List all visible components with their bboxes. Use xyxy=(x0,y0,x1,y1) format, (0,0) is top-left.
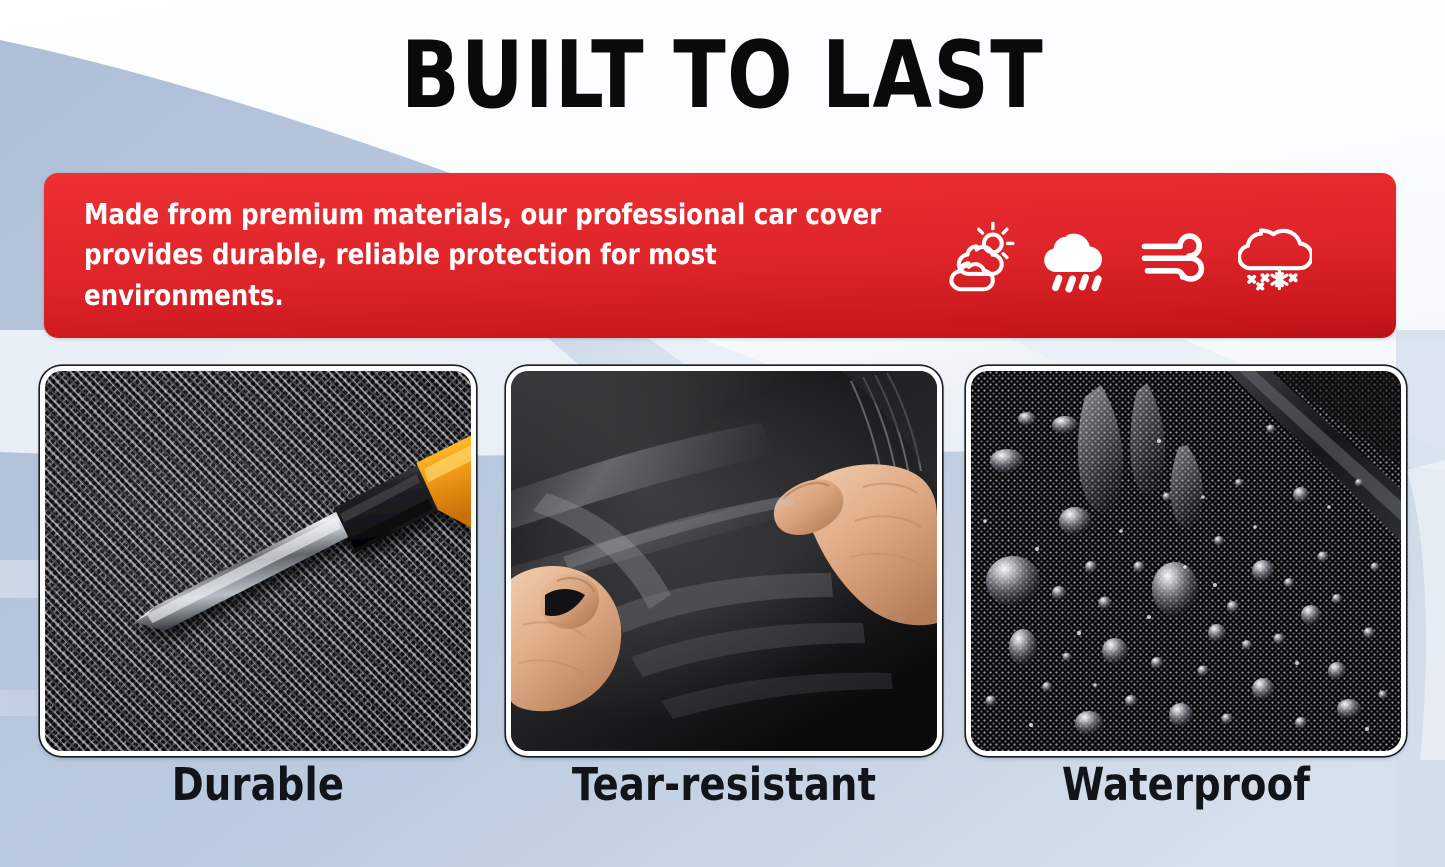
sun-behind-cloud-icon xyxy=(944,219,1018,293)
feature-image-tear-resistant xyxy=(511,371,937,751)
feature-panel-waterproof xyxy=(966,366,1406,756)
rain-cloud-icon xyxy=(1042,219,1116,293)
page-title-row: BUILT TO LAST xyxy=(0,0,1445,150)
page-title: BUILT TO LAST xyxy=(401,29,1044,122)
weather-icon-group xyxy=(944,219,1312,293)
stretched-sheet-illustration xyxy=(511,371,937,751)
feature-image-durable xyxy=(45,371,471,751)
feature-panel-tear-resistant xyxy=(506,366,942,756)
banner-description-text: Made from premium materials, our profess… xyxy=(84,195,902,316)
feature-panel-durable xyxy=(40,366,476,756)
water-beading-illustration xyxy=(971,371,1401,751)
snow-cloud-icon xyxy=(1238,219,1312,293)
caption-tear-resistant: Tear-resistant xyxy=(517,762,931,807)
wind-icon xyxy=(1140,219,1214,293)
description-banner: Made from premium materials, our profess… xyxy=(44,173,1396,338)
caption-waterproof: Waterproof xyxy=(977,762,1395,807)
screwdriver-illustration xyxy=(45,371,471,742)
feature-image-waterproof xyxy=(971,371,1401,751)
feature-caption-row: Durable Tear-resistant Waterproof xyxy=(0,762,1445,834)
feature-image-row xyxy=(0,366,1445,756)
caption-durable: Durable xyxy=(51,762,465,807)
